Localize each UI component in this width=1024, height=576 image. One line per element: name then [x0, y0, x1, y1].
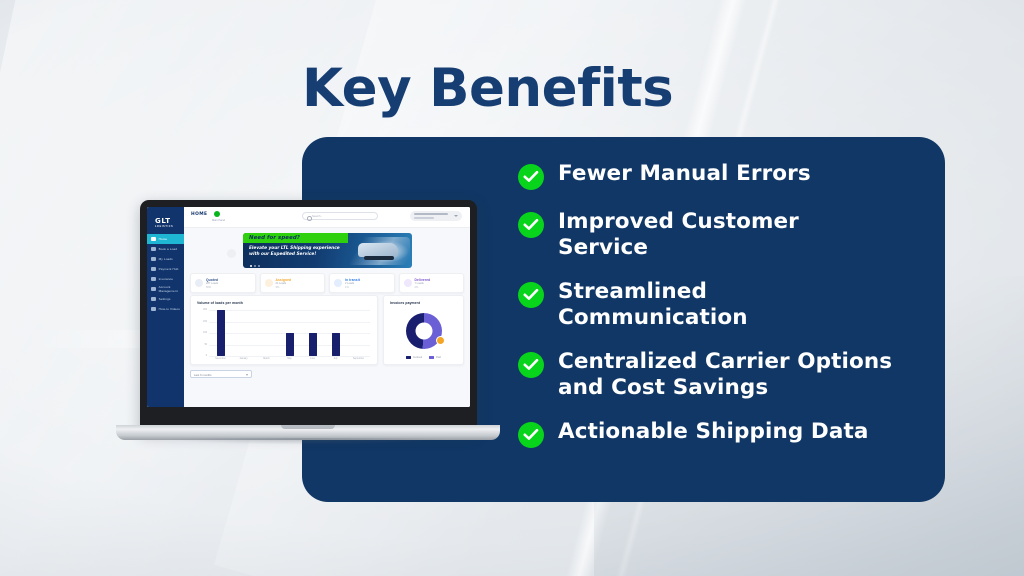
- sidebar-item-label: Account Management: [159, 285, 184, 293]
- sidebar-item-home[interactable]: Home: [147, 234, 184, 244]
- bar-column: March: [255, 310, 278, 356]
- search-input[interactable]: Search...: [302, 212, 378, 220]
- list-item: Improved Customer Service: [518, 209, 927, 260]
- carousel-dot[interactable]: [254, 265, 256, 267]
- bar-column: May: [278, 310, 301, 356]
- card-title: Assigned: [276, 278, 292, 282]
- x-tick: November: [215, 358, 226, 360]
- status-card-row: Quoted 287 Loads 50% Assigned 21 Loads 3…: [190, 273, 464, 293]
- benefit-label: Actionable Shipping Data: [558, 419, 868, 445]
- app-header: HOME Main Panel Search...: [184, 207, 470, 228]
- shield-icon: [151, 277, 156, 282]
- page-title-app: HOME: [191, 212, 207, 217]
- truck-icon: [195, 279, 203, 287]
- chevron-down-icon: [454, 215, 458, 217]
- bar-column: January: [232, 310, 255, 356]
- donut-chart-card: Invoices payment Invoiced Paid: [383, 295, 464, 365]
- benefit-label: Centralized Carrier Options and Cost Sav…: [558, 349, 903, 400]
- delivered-icon: [404, 279, 412, 287]
- sidebar-item-payment-hub[interactable]: Payment Hub: [147, 264, 184, 274]
- box-icon: [151, 247, 156, 252]
- status-card-quoted[interactable]: Quoted 287 Loads 50%: [190, 273, 256, 293]
- list-item: Centralized Carrier Options and Cost Sav…: [518, 349, 927, 400]
- list-item: Streamlined Communication: [518, 279, 927, 330]
- check-circle-icon: [518, 282, 544, 308]
- y-tick: 100: [203, 332, 207, 334]
- donut-chart: [406, 313, 442, 349]
- card-value: 50%: [206, 286, 211, 289]
- sidebar-item-book-a-load[interactable]: Book a Load: [147, 244, 184, 254]
- check-circle-icon: [518, 422, 544, 448]
- clipboard-icon: [151, 257, 156, 262]
- card-value: 2%: [415, 286, 419, 289]
- laptop-shadow: [120, 438, 496, 447]
- sidebar-item-label: Insurance: [159, 277, 174, 281]
- card-title: Delivered: [415, 278, 431, 282]
- x-tick: March: [263, 358, 269, 360]
- users-icon: [151, 287, 156, 292]
- page-title: Key Benefits: [302, 62, 673, 115]
- donut-badge-icon: [436, 336, 445, 345]
- sidebar-item-label: Payment Hub: [159, 267, 179, 271]
- benefit-label: Streamlined Communication: [558, 279, 813, 330]
- chevron-down-icon: [246, 374, 248, 376]
- carousel-dot[interactable]: [258, 265, 260, 267]
- banner-body: Elevate your LTL Shipping experience wit…: [249, 246, 345, 259]
- y-tick: 0: [206, 355, 207, 357]
- truck-illustration: [348, 237, 410, 265]
- laptop-lid: GLT LOGISTICS Home Book a Load My Loads …: [140, 200, 477, 432]
- account-role: [414, 217, 434, 219]
- sidebar-item-insurance[interactable]: Insurance: [147, 274, 184, 284]
- header-subtitle: Main Panel: [212, 219, 225, 222]
- in-transit-icon: [334, 279, 342, 287]
- sidebar-item-label: How-to Videos: [159, 307, 180, 311]
- chart-title: Volume of loads per month: [197, 301, 371, 305]
- x-tick: September: [353, 358, 364, 360]
- sidebar-item-label: Settings: [159, 297, 171, 301]
- bar-series: November January March May June July Sep…: [209, 310, 370, 356]
- sidebar-item-account-management[interactable]: Account Management: [147, 284, 184, 294]
- account-name: [414, 213, 448, 215]
- list-item: Actionable Shipping Data: [518, 419, 927, 448]
- y-tick: 200: [203, 309, 207, 311]
- brand-tagline: LOGISTICS: [155, 225, 178, 228]
- gear-icon: [151, 297, 156, 302]
- bar-column: November: [209, 310, 232, 356]
- card-value: 1%: [345, 286, 349, 289]
- video-icon: [151, 307, 156, 312]
- placeholder-avatar: [227, 249, 236, 258]
- x-tick: June: [310, 358, 315, 360]
- bar-chart-card: Volume of loads per month 200 150 100 50…: [190, 295, 378, 365]
- date-range-value: Last 6 months: [194, 373, 212, 377]
- date-range-select[interactable]: Last 6 months: [190, 370, 252, 378]
- app-main: HOME Main Panel Search...: [184, 207, 470, 407]
- status-badge: [214, 211, 220, 217]
- banner-headline: Need for speed?: [249, 235, 300, 241]
- assigned-icon: [265, 279, 273, 287]
- x-tick: January: [239, 358, 247, 360]
- legend-entry: Paid: [429, 356, 441, 359]
- sidebar-item-label: Home: [159, 237, 168, 241]
- carousel-dot[interactable]: [250, 265, 252, 267]
- carousel-dots[interactable]: [250, 265, 260, 267]
- sidebar-item-settings[interactable]: Settings: [147, 294, 184, 304]
- dashboard-app: GLT LOGISTICS Home Book a Load My Loads …: [147, 207, 470, 407]
- app-sidebar: GLT LOGISTICS Home Book a Load My Loads …: [147, 207, 184, 407]
- status-card-delivered[interactable]: Delivered 7 Loads 2%: [399, 273, 465, 293]
- x-tick: May: [287, 358, 291, 360]
- bar-column: September: [347, 310, 370, 356]
- sidebar-item-label: Book a Load: [159, 247, 177, 251]
- laptop-screen: GLT LOGISTICS Home Book a Load My Loads …: [147, 207, 470, 407]
- y-tick: 50: [204, 344, 207, 346]
- card-subtitle: 287 Loads: [206, 282, 218, 285]
- laptop-mockup: GLT LOGISTICS Home Book a Load My Loads …: [116, 200, 500, 450]
- legend-swatch: [429, 356, 434, 359]
- sidebar-item-label: My Loads: [159, 257, 173, 261]
- wallet-icon: [151, 267, 156, 272]
- legend-label: Paid: [436, 356, 441, 359]
- list-item: Fewer Manual Errors: [518, 161, 927, 190]
- card-title: Quoted: [206, 278, 218, 282]
- chart-legend: Invoiced Paid: [384, 356, 463, 359]
- brand-logo: GLT LOGISTICS: [155, 218, 178, 227]
- check-circle-icon: [518, 212, 544, 238]
- bar-column: July: [324, 310, 347, 356]
- charts-row: Volume of loads per month 200 150 100 50…: [190, 295, 464, 365]
- card-subtitle: 7 Loads: [415, 282, 424, 285]
- sidebar-item-my-loads[interactable]: My Loads: [147, 254, 184, 264]
- chart-title: Invoices payment: [390, 301, 457, 305]
- promo-banner[interactable]: Need for speed? Elevate your LTL Shippin…: [243, 233, 412, 268]
- status-card-assigned[interactable]: Assigned 21 Loads 3%: [260, 273, 326, 293]
- card-title: In transit: [345, 278, 360, 282]
- card-subtitle: 2 Loads: [345, 282, 354, 285]
- account-menu[interactable]: [410, 211, 462, 221]
- brand-name: GLT: [155, 217, 171, 225]
- benefit-label: Improved Customer Service: [558, 209, 848, 260]
- benefit-label: Fewer Manual Errors: [558, 161, 811, 187]
- sidebar-item-how-to-videos[interactable]: How-to Videos: [147, 304, 184, 314]
- home-icon: [151, 237, 156, 242]
- status-card-in-transit[interactable]: In transit 2 Loads 1%: [329, 273, 395, 293]
- check-circle-icon: [518, 352, 544, 378]
- bar-column: June: [301, 310, 324, 356]
- benefits-list: Fewer Manual Errors Improved Customer Se…: [518, 161, 927, 448]
- card-subtitle: 21 Loads: [276, 282, 287, 285]
- y-tick: 150: [203, 321, 207, 323]
- legend-label: Invoiced: [413, 356, 422, 359]
- bar-chart-plot: 200 150 100 50 0 November January March: [209, 310, 370, 356]
- legend-entry: Invoiced: [406, 356, 422, 359]
- card-value: 3%: [276, 286, 280, 289]
- legend-swatch: [406, 356, 411, 359]
- x-tick: July: [333, 358, 337, 360]
- slide-canvas: Key Benefits Fewer Manual Errors Improve…: [0, 0, 1024, 576]
- check-circle-icon: [518, 164, 544, 190]
